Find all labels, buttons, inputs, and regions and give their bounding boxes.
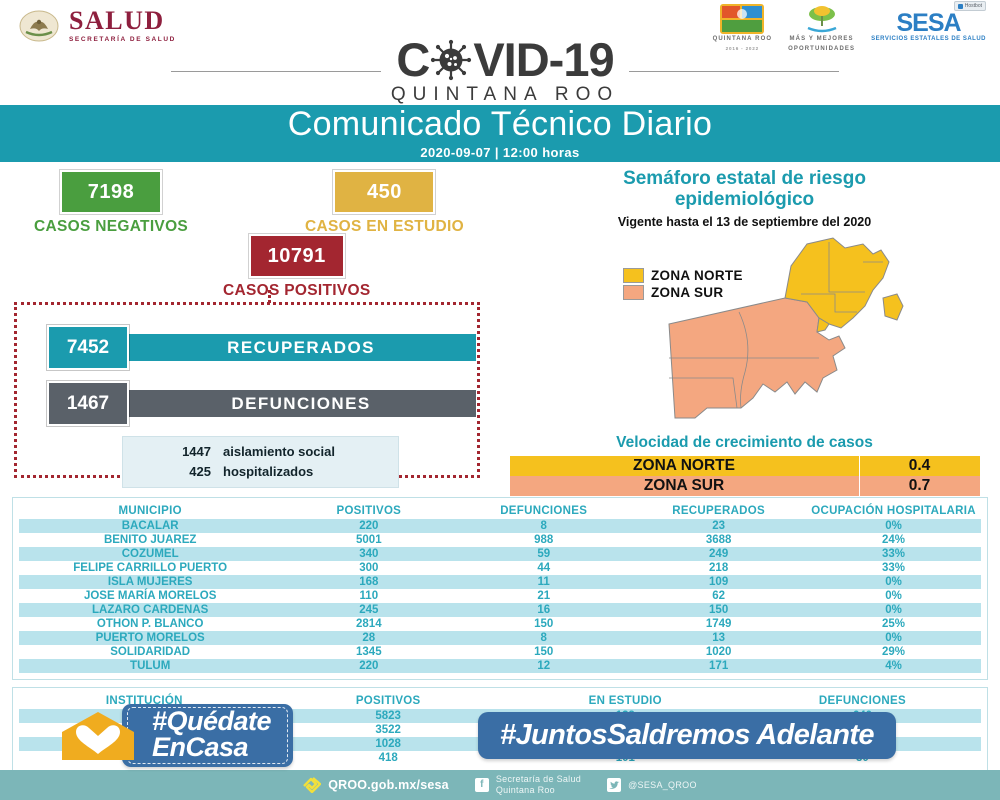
- municipios-cell: 25%: [806, 617, 981, 631]
- municipios-cell: 62: [631, 589, 806, 603]
- municipios-cell: 150: [456, 617, 631, 631]
- municipios-cell: BACALAR: [19, 519, 281, 533]
- municipios-cell: 1749: [631, 617, 806, 631]
- municipios-cell: 44: [456, 561, 631, 575]
- footer-website-text: QROO.gob.mx/sesa: [328, 778, 449, 792]
- velocidad-row-sur: ZONA SUR 0.7: [510, 476, 980, 496]
- stat-casos-negativos: 7198 CASOS NEGATIVOS: [34, 170, 188, 236]
- municipios-cell: 0%: [806, 589, 981, 603]
- municipios-cell: 16: [456, 603, 631, 617]
- municipios-cell: 218: [631, 561, 806, 575]
- municipios-cell: 8: [456, 631, 631, 645]
- municipios-cell: 340: [281, 547, 456, 561]
- municipios-cell: 110: [281, 589, 456, 603]
- stats-area: 7198 CASOS NEGATIVOS 450 CASOS EN ESTUDI…: [0, 162, 1000, 490]
- page-footer: QROO.gob.mx/sesa f Secretaría de Salud Q…: [0, 770, 1000, 800]
- covid-state-subtitle: QUINTANA ROO: [391, 84, 619, 106]
- municipios-header-3: RECUPERADOS: [631, 502, 806, 519]
- municipios-cell: SOLIDARIDAD: [19, 645, 281, 659]
- semaforo-section: Semáforo estatal de riesgo epidemiológic…: [497, 168, 992, 229]
- municipios-cell: 28: [281, 631, 456, 645]
- municipios-cell: BENITO JUAREZ: [19, 533, 281, 547]
- covid-rest: VID-19: [473, 36, 613, 83]
- detail-label-aislamiento: aislamiento social: [223, 442, 335, 462]
- municipios-cell: 168: [281, 575, 456, 589]
- footer-twitter-handle: @SESA_QROO: [628, 780, 697, 791]
- table-row: OTHON P. BLANCO2814150174925%: [19, 617, 981, 631]
- municipios-cell: 11: [456, 575, 631, 589]
- municipios-header-row: MUNICIPIOPOSITIVOSDEFUNCIONESRECUPERADOS…: [19, 502, 981, 519]
- municipios-table: MUNICIPIOPOSITIVOSDEFUNCIONESRECUPERADOS…: [19, 502, 981, 673]
- bar-label-defunciones: DEFUNCIONES: [126, 390, 476, 417]
- detail-row-aislamiento: 1447 aislamiento social: [123, 442, 398, 462]
- table-row: ISLA MUJERES168111090%: [19, 575, 981, 589]
- municipios-cell: 220: [281, 519, 456, 533]
- municipios-header-0: MUNICIPIO: [19, 502, 281, 519]
- velocidad-zone-sur: ZONA SUR: [510, 476, 860, 496]
- table-row: COZUMEL3405924933%: [19, 547, 981, 561]
- municipios-cell: 300: [281, 561, 456, 575]
- municipios-cell: 33%: [806, 561, 981, 575]
- covid-title: C: [391, 36, 619, 106]
- house-heart-icon: [60, 710, 136, 762]
- stat-casos-en-estudio: 450 CASOS EN ESTUDIO: [305, 170, 464, 236]
- footer-facebook-text: Secretaría de Salud Quintana Roo: [496, 774, 581, 796]
- municipios-cell: 2814: [281, 617, 456, 631]
- municipios-cell: 245: [281, 603, 456, 617]
- quintana-roo-map-icon: [667, 232, 917, 432]
- state-map: ZONA NORTE ZONA SUR: [497, 232, 992, 432]
- municipios-cell: 1020: [631, 645, 806, 659]
- footer-twitter[interactable]: @SESA_QROO: [607, 778, 697, 792]
- footer-facebook[interactable]: f Secretaría de Salud Quintana Roo: [475, 774, 581, 796]
- stat-value-estudio: 450: [333, 170, 435, 214]
- municipios-cell: 249: [631, 547, 806, 561]
- semaforo-title-line1: Semáforo estatal de riesgo: [497, 168, 992, 189]
- semaforo-title: Semáforo estatal de riesgo epidemiológic…: [497, 168, 992, 211]
- stat-label-negativos: CASOS NEGATIVOS: [34, 218, 188, 236]
- municipios-card: MUNICIPIOPOSITIVOSDEFUNCIONESRECUPERADOS…: [12, 497, 988, 680]
- legend-swatch-norte: [623, 268, 644, 283]
- footer-website-rest: .gob.mx/sesa: [367, 778, 449, 792]
- page-header: SALUD SECRETARÍA DE SALUD QUINTANA ROO 2…: [0, 0, 1000, 105]
- table-row: BACALAR2208230%: [19, 519, 981, 533]
- bar-value-defunciones: 1467: [47, 381, 129, 426]
- table-row: FELIPE CARRILLO PUERTO3004421833%: [19, 561, 981, 575]
- title-rule-right: [629, 71, 839, 72]
- stat-label-positivos: CASOS POSITIVOS: [223, 282, 370, 300]
- coronavirus-icon: [430, 39, 472, 81]
- banner-date: 2020-09-07 | 12:00 horas: [420, 145, 579, 160]
- municipios-cell: 33%: [806, 547, 981, 561]
- banner-title: Comunicado Técnico Diario: [288, 107, 713, 141]
- bar-value-recuperados: 7452: [47, 325, 129, 370]
- velocidad-value-norte: 0.4: [859, 456, 980, 476]
- table-row: LAZARO CARDENAS245161500%: [19, 603, 981, 617]
- covid-wordmark: C: [396, 36, 613, 83]
- municipios-cell: 220: [281, 659, 456, 673]
- semaforo-title-line2: epidemiológico: [497, 189, 992, 210]
- municipios-cell: LAZARO CARDENAS: [19, 603, 281, 617]
- qroo-mark-icon: [303, 777, 321, 793]
- municipios-cell: JOSE MARÍA MORELOS: [19, 589, 281, 603]
- campaign-banners: #Quédate EnCasa #JuntosSaldremos Adelant…: [0, 700, 1000, 770]
- table-row: BENITO JUAREZ5001988368824%: [19, 533, 981, 547]
- footer-facebook-line2: Quintana Roo: [496, 785, 581, 796]
- bar-defunciones: 1467 DEFUNCIONES: [47, 381, 476, 426]
- municipios-cell: 0%: [806, 519, 981, 533]
- municipios-header-2: DEFUNCIONES: [456, 502, 631, 519]
- municipios-body: BACALAR2208230%BENITO JUAREZ500198836882…: [19, 519, 981, 673]
- velocidad-title: Velocidad de crecimiento de casos: [497, 434, 992, 452]
- table-row: TULUM220121714%: [19, 659, 981, 673]
- municipios-cell: 109: [631, 575, 806, 589]
- municipios-cell: 1345: [281, 645, 456, 659]
- covid-letter-c: C: [396, 36, 429, 83]
- velocidad-table: ZONA NORTE 0.4 ZONA SUR 0.7: [510, 456, 980, 496]
- municipios-cell: 0%: [806, 575, 981, 589]
- quedate-badge: #Quédate EnCasa: [122, 704, 293, 767]
- hostbot-badge: Hostbot: [954, 1, 986, 11]
- defunciones-detail-panel: 1447 aislamiento social 425 hospitalizad…: [122, 436, 399, 488]
- covid-title-block: C: [0, 36, 1000, 106]
- stat-value-negativos: 7198: [60, 170, 162, 214]
- velocidad-zone-norte: ZONA NORTE: [510, 456, 860, 476]
- municipios-header-1: POSITIVOS: [281, 502, 456, 519]
- municipios-cell: 29%: [806, 645, 981, 659]
- quintana-roo-crest-icon: [720, 4, 764, 34]
- municipios-cell: 150: [456, 645, 631, 659]
- stat-value-positivos: 10791: [249, 234, 345, 278]
- quedate-en-casa-banner: #Quédate EnCasa: [60, 704, 307, 767]
- quedate-line2: EnCasa: [152, 732, 248, 762]
- velocidad-section: Velocidad de crecimiento de casos ZONA N…: [497, 434, 992, 496]
- municipios-header-4: OCUPACIÓN HOSPITALARIA: [806, 502, 981, 519]
- municipios-cell: 988: [456, 533, 631, 547]
- hostbot-label: Hostbot: [965, 3, 982, 9]
- municipios-cell: 23: [631, 519, 806, 533]
- municipios-cell: OTHON P. BLANCO: [19, 617, 281, 631]
- footer-facebook-line1: Secretaría de Salud: [496, 774, 581, 785]
- table-row: PUERTO MORELOS288130%: [19, 631, 981, 645]
- municipios-cell: 150: [631, 603, 806, 617]
- twitter-icon: [607, 778, 621, 792]
- municipios-cell: PUERTO MORELOS: [19, 631, 281, 645]
- municipios-cell: 4%: [806, 659, 981, 673]
- footer-website[interactable]: QROO.gob.mx/sesa: [303, 777, 449, 793]
- stat-casos-positivos: 10791 CASOS POSITIVOS: [223, 234, 370, 300]
- municipios-cell: 13: [631, 631, 806, 645]
- hostbot-mark-icon: [958, 4, 963, 9]
- tree-icon: [802, 4, 842, 34]
- municipios-cell: 21: [456, 589, 631, 603]
- table-row: JOSE MARÍA MORELOS11021620%: [19, 589, 981, 603]
- municipios-cell: 24%: [806, 533, 981, 547]
- title-rule-left: [171, 71, 381, 72]
- infographic-page: SALUD SECRETARÍA DE SALUD QUINTANA ROO 2…: [0, 0, 1000, 800]
- velocidad-value-sur: 0.7: [859, 476, 980, 496]
- municipios-cell: 3688: [631, 533, 806, 547]
- municipios-cell: 0%: [806, 631, 981, 645]
- footer-website-bold: QROO: [328, 778, 367, 792]
- juntos-saldremos-banner: #JuntosSaldremos Adelante: [478, 712, 896, 759]
- detail-value-hospitalizados: 425: [123, 462, 223, 482]
- salud-title: SALUD: [69, 8, 176, 34]
- municipios-cell: COZUMEL: [19, 547, 281, 561]
- velocidad-row-norte: ZONA NORTE 0.4: [510, 456, 980, 476]
- table-row: SOLIDARIDAD1345150102029%: [19, 645, 981, 659]
- report-banner: Comunicado Técnico Diario 2020-09-07 | 1…: [0, 105, 1000, 162]
- sesa-wordmark: SESA: [897, 13, 961, 34]
- detail-row-hospitalizados: 425 hospitalizados: [123, 462, 398, 482]
- municipios-cell: 12: [456, 659, 631, 673]
- municipios-cell: TULUM: [19, 659, 281, 673]
- detail-value-aislamiento: 1447: [123, 442, 223, 462]
- municipios-cell: 8: [456, 519, 631, 533]
- bar-label-recuperados: RECUPERADOS: [126, 334, 476, 361]
- detail-label-hospitalizados: hospitalizados: [223, 462, 313, 482]
- municipios-cell: 0%: [806, 603, 981, 617]
- municipios-cell: 59: [456, 547, 631, 561]
- municipios-cell: FELIPE CARRILLO PUERTO: [19, 561, 281, 575]
- municipios-cell: 5001: [281, 533, 456, 547]
- bar-recuperados: 7452 RECUPERADOS: [47, 325, 476, 370]
- semaforo-valid-until: Vigente hasta el 13 de septiembre del 20…: [497, 215, 992, 229]
- legend-swatch-sur: [623, 285, 644, 300]
- municipios-cell: ISLA MUJERES: [19, 575, 281, 589]
- facebook-icon: f: [475, 778, 489, 792]
- municipios-cell: 171: [631, 659, 806, 673]
